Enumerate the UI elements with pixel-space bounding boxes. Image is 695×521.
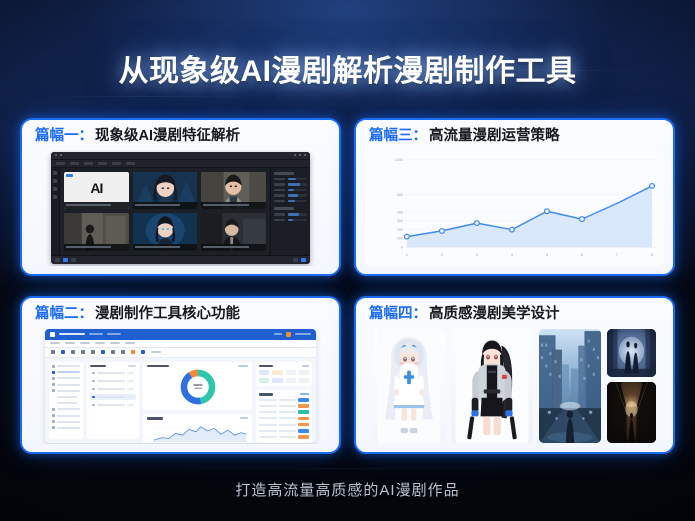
toolbar-item [56,162,65,165]
folder-icon [52,414,55,417]
toolbar-label [151,351,161,353]
chart-area-fill [407,185,652,246]
card-grid: 篇幅一： 现象级AI漫剧特征解析 [20,118,675,454]
rail-icon [53,171,57,175]
status-button-primary [63,258,68,262]
editor-menu-dot [55,154,57,156]
editor-menu-dot [60,154,62,156]
clip-caption [201,202,266,209]
toolbar-item [126,162,135,165]
panel-row [274,178,307,181]
toolbar-icon [51,350,55,354]
list-item[interactable] [90,394,136,400]
window-control-dot [304,154,306,156]
activity-row [259,417,309,421]
quick-action-tile[interactable] [286,378,296,383]
clip-thumbnail [201,172,266,210]
toolbar-item [98,162,107,165]
panel-row [274,183,307,186]
status-badge [298,435,309,439]
editor-toolbar [51,160,310,168]
svg-text:200: 200 [397,228,403,232]
editor-left-rail [51,168,60,256]
clip-caption [133,244,198,251]
card-chapter-four[interactable]: 篇幅四： 高质感漫剧美学设计 [354,296,675,454]
folder-icon [52,383,55,386]
folder-icon [52,420,55,423]
list-item[interactable] [90,386,136,392]
toolbar-icon [141,350,145,354]
card-two-heading: 漫剧制作工具核心功能 [95,307,240,322]
quick-action-tile[interactable] [299,378,309,383]
video-editor-screenshot: AI [51,152,310,265]
status-badge [298,417,309,421]
avatar [286,332,291,337]
status-button [293,258,298,262]
activity-row [259,429,309,433]
subnav-item [110,342,120,344]
folder-icon [52,408,55,411]
black-ponytail-character [451,329,533,444]
card-one-tag: 篇幅一： [35,129,93,144]
chart-marker [650,183,655,188]
sidebar-item[interactable] [52,389,80,392]
chart-marker [475,220,480,225]
list-item[interactable] [90,402,136,408]
sidebar-item[interactable] [52,420,80,423]
dark-corridor-scene [607,382,656,443]
editor-statusbar [51,255,310,264]
toolbar-icon [101,350,105,354]
page-title: 从现象级AI漫剧解析漫剧制作工具 [0,46,695,90]
list-item[interactable] [90,378,136,384]
sidebar-item[interactable] [52,426,80,429]
card-four-body [365,328,664,445]
user-name [295,333,311,336]
panel-row [274,219,307,222]
status-badge [298,398,309,402]
sidebar-item[interactable] [52,402,80,405]
panel-row [274,189,307,192]
editor-titlebar [51,152,310,160]
svg-text:1: 1 [406,251,408,256]
clip-caption [133,202,198,209]
card-one-heading: 现象级AI漫剧特征解析 [95,129,240,144]
subnav-item [50,342,60,344]
window-control-dot [294,154,296,156]
svg-text:300: 300 [397,219,403,223]
activity-row [259,410,309,414]
card-four-heading: 高质感漫剧美学设计 [429,307,560,322]
page-footer: 打造高流量高质感的AI漫剧作品 [0,479,695,500]
blue-city-street-scene [539,329,601,444]
donut-chart [147,367,248,407]
sidebar-item[interactable] [52,371,80,374]
panel-row [274,200,307,203]
chart-marker [439,228,444,233]
status-badge [298,429,309,433]
toolbar-item [84,162,93,165]
subnav-item [65,342,75,344]
svg-text:2: 2 [441,251,443,256]
chart-x-axis-labels: 12345678 [406,251,654,256]
dashboard-subnav [45,340,316,348]
sidebar-item[interactable] [52,383,80,386]
dashboard-list-panel [87,362,139,440]
dashboard-header [45,329,316,340]
dashboard-right-panel [256,362,312,440]
toolbar-icon [91,350,95,354]
card-two-body [31,328,330,445]
clip-thumbnail [133,213,198,251]
toolbar-icon [121,350,125,354]
activity-row [259,435,309,439]
quick-actions-card [256,362,312,387]
toolbar-item [112,162,121,165]
admin-dashboard-screenshot [45,329,316,444]
svg-text:100: 100 [397,236,403,240]
chart-marker [545,208,550,213]
clip-caption [201,244,266,251]
rail-icon [53,179,57,183]
card-two-header: 篇幅二： 漫剧制作工具核心功能 [35,307,330,322]
editor-clip-grid: AI [60,168,270,256]
clip-thumbnail: AI [64,172,129,210]
toolbar-item [70,162,79,165]
clip-badge [66,174,73,177]
status-button-primary [301,258,306,262]
donut-svg [178,367,218,407]
card-chapter-one[interactable]: 篇幅一： 现象级AI漫剧特征解析 [20,118,341,276]
editor-properties-panel [270,168,310,256]
toolbar-icon [81,350,85,354]
svg-text:7: 7 [616,251,618,256]
window-control-dot [299,154,301,156]
card-one-body: AI [31,150,330,267]
subnav-item [125,342,135,344]
quick-actions-header [259,365,309,368]
activity-row [259,423,309,427]
svg-text:0: 0 [401,245,403,249]
toolbar-icon [71,350,75,354]
toolbar-icon [131,350,135,354]
two-silhouettes-light-scene [607,329,656,378]
chart-marker [510,227,515,232]
sidebar-item[interactable] [52,365,80,368]
card-four-header: 篇幅四： 高质感漫剧美学设计 [369,307,664,322]
card-three-body: 10006004003002001000 12345678 [365,150,664,267]
chart-marker [404,234,409,239]
clip-thumbnail [201,213,266,251]
dashboard-toolbar [45,348,316,358]
trend-chart-card [143,414,252,443]
status-badge [298,410,309,414]
card-three-tag: 篇幅三： [369,129,427,144]
clip-thumbnail [133,172,198,210]
status-button [71,258,76,262]
activity-row [259,404,309,408]
svg-text:8: 8 [651,251,654,256]
panel-row [274,213,307,216]
quick-action-tile[interactable] [299,370,309,375]
quick-action-tile[interactable] [259,370,269,375]
quick-action-tile[interactable] [272,378,282,383]
svg-text:4: 4 [511,251,514,256]
breadcrumb [107,333,121,336]
card-three-header: 篇幅三： 高流量漫剧运营策略 [369,129,664,144]
white-haired-character [373,329,445,444]
subnav-item [80,342,90,344]
svg-text:5: 5 [546,251,549,256]
panel-title [274,172,294,175]
clip-caption [64,202,129,209]
dashboard-sidebar [49,362,83,440]
activity-list-header [259,393,309,396]
subnav-item [95,342,105,344]
panel-row [274,194,307,197]
folder-icon [52,377,55,380]
card-one-header: 篇幅一： 现象级AI漫剧特征解析 [35,129,330,144]
chart-y-axis-labels: 10006004003002001000 [395,158,403,249]
sidebar-item[interactable] [52,414,80,417]
clip-caption [64,244,129,251]
list-item[interactable] [90,370,136,376]
traffic-chart: 10006004003002001000 12345678 [365,150,664,267]
card-chapter-three[interactable]: 篇幅三： 高流量漫剧运营策略 10006004003002001000 1234… [354,118,675,276]
folder-icon [52,426,55,429]
trend-sparkline [147,420,248,444]
panel-title [274,207,294,210]
chart-marker [580,216,585,221]
svg-text:3: 3 [476,251,479,256]
quick-action-tile[interactable] [259,378,269,383]
card-chapter-two[interactable]: 篇幅二： 漫剧制作工具核心功能 [20,296,341,454]
activity-row [259,398,309,402]
clip-thumbnail [64,213,129,251]
card-three-heading: 高流量漫剧运营策略 [429,129,560,144]
rail-icon [53,187,57,191]
donut-chart-card [143,362,252,411]
card-two-tag: 篇幅二： [35,307,93,322]
chart-svg: 10006004003002001000 12345678 [365,150,664,267]
folder-icon [52,389,55,392]
toolbar-icon [111,350,115,354]
svg-text:600: 600 [397,193,403,197]
sidebar-item[interactable] [52,395,80,398]
status-badge [298,404,309,408]
folder-icon [52,365,55,368]
folder-icon [52,371,55,374]
toolbar-icon [61,350,65,354]
clip-ai-label: AI [90,181,102,195]
svg-text:400: 400 [397,210,403,214]
svg-text:1000: 1000 [395,158,403,162]
list-panel-header [90,365,136,368]
app-name [59,333,85,336]
breadcrumb [89,333,103,336]
header-action [274,333,282,336]
sidebar-item[interactable] [52,408,80,411]
character-art-gallery [365,328,664,445]
svg-text:6: 6 [581,251,584,256]
app-logo-icon [50,332,55,337]
quick-action-tile[interactable] [272,370,282,375]
status-badge [298,423,309,427]
rail-icon [53,195,57,199]
status-button [55,258,60,262]
sidebar-item[interactable] [52,377,80,380]
quick-action-tile[interactable] [286,370,296,375]
activity-list-card [256,390,312,442]
card-four-tag: 篇幅四： [369,307,427,322]
